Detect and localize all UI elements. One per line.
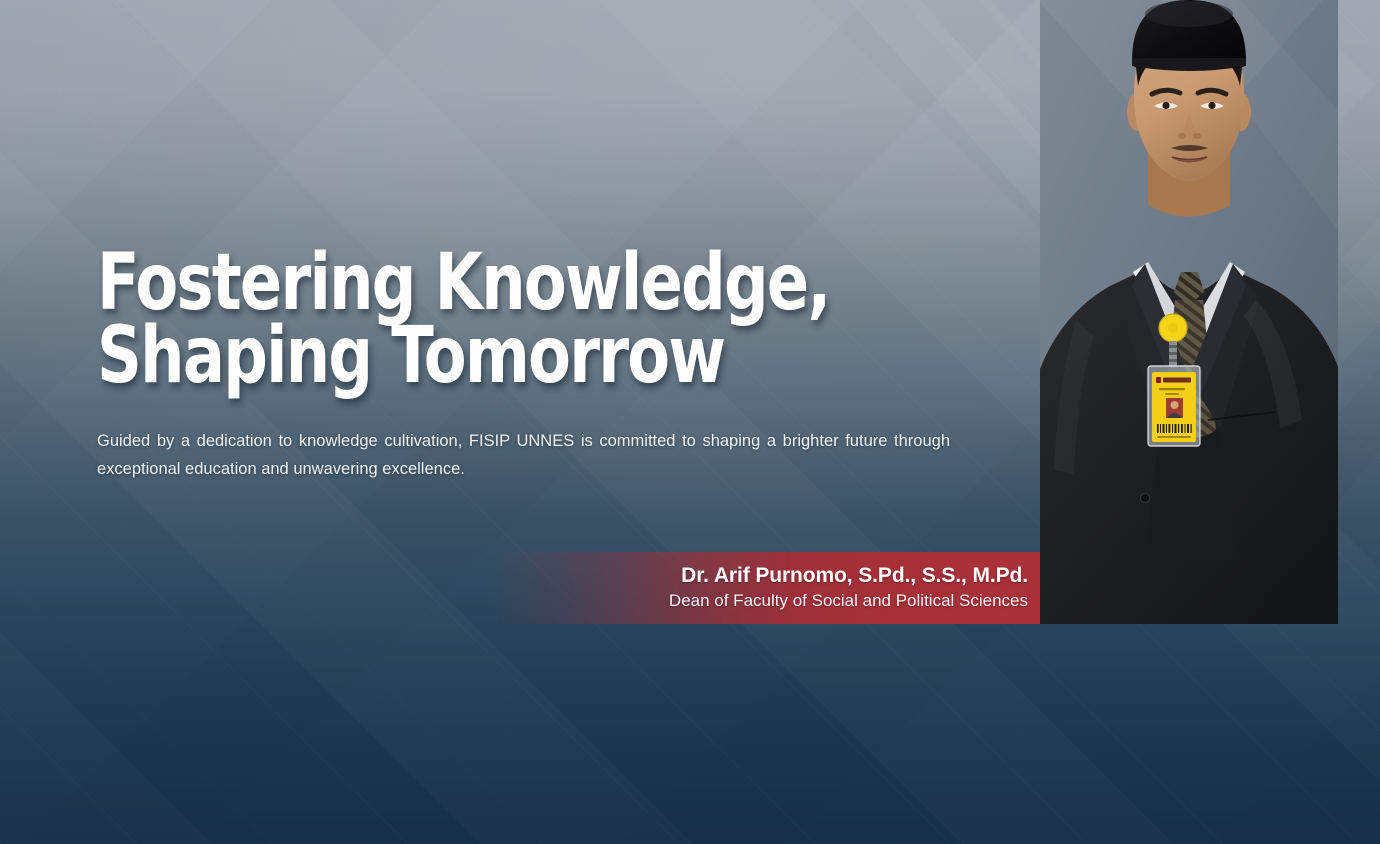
headline-line-2: Shaping Tomorrow [97, 320, 785, 393]
hero-content: Fostering Knowledge, Shaping Tomorrow Gu… [97, 247, 957, 483]
hero-banner: Fostering Knowledge, Shaping Tomorrow Gu… [0, 0, 1380, 844]
person-name-banner: Dr. Arif Purnomo, S.Pd., S.S., M.Pd. Dea… [490, 552, 1046, 624]
subcopy-line-1: Guided by a dedication to knowledge cult… [97, 432, 776, 450]
page-title: Fostering Knowledge, Shaping Tomorrow [97, 247, 785, 394]
person-name: Dr. Arif Purnomo, S.Pd., S.S., M.Pd. [681, 563, 1028, 588]
person-role: Dean of Faculty of Social and Political … [669, 590, 1028, 613]
headline-line-1: Fostering Knowledge, [97, 247, 785, 320]
avatar [1040, 0, 1338, 624]
hero-subcopy: Guided by a dedication to knowledge cult… [97, 427, 950, 484]
